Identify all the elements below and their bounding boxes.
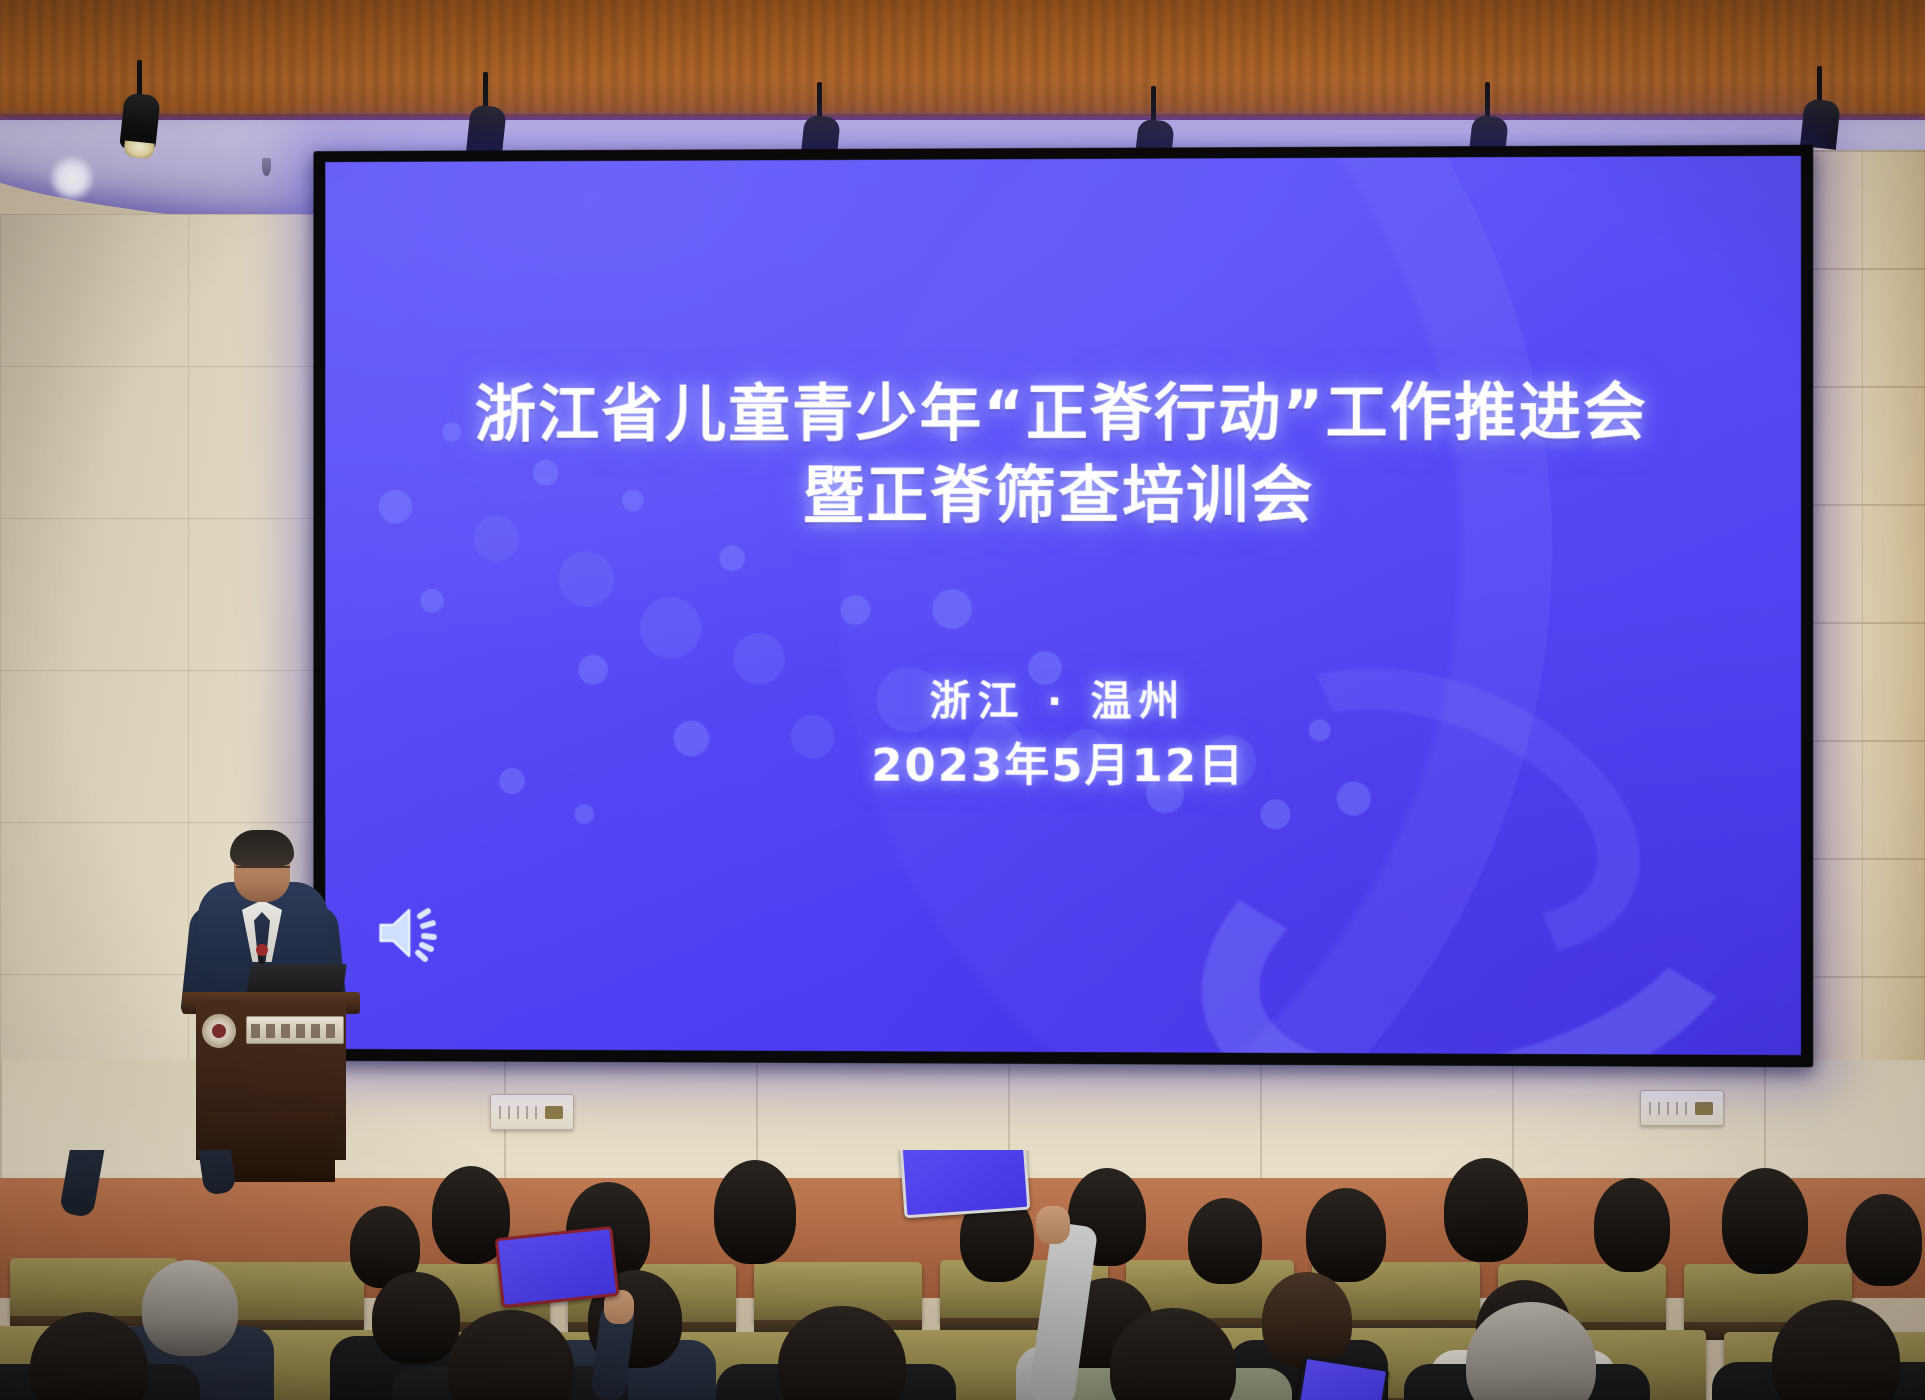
wall-right-panel [1800, 150, 1925, 1130]
audience-head [714, 1160, 796, 1264]
slide-bubble [558, 551, 613, 607]
podium-nameplate [246, 1016, 344, 1044]
speaker-volume-icon [377, 904, 442, 962]
slide-bubble [420, 589, 444, 613]
audience-head [372, 1272, 460, 1364]
audience-head [1262, 1272, 1352, 1368]
sprinkler-head-icon-1 [262, 158, 271, 176]
slide-date: 2023年5月12日 [325, 728, 1801, 795]
wall-outlet-icon-right [1640, 1090, 1724, 1126]
audience-head [1188, 1198, 1262, 1284]
podium-emblem-icon [202, 1014, 236, 1048]
microphone-head [256, 944, 268, 956]
downlight-1 [50, 156, 94, 200]
audience-area [0, 1150, 1925, 1400]
presentation-slide: 浙江省儿童青少年“正脊行动”工作推进会 暨正脊筛查培训会 浙江 · 温州 202… [325, 156, 1801, 1055]
audience-hand [1036, 1206, 1070, 1244]
slide-place: 浙江 · 温州 [325, 667, 1801, 728]
audience-head [1594, 1178, 1670, 1272]
audience-head [1722, 1168, 1808, 1274]
ceiling-wood-panel [0, 0, 1925, 132]
slide-bubble [574, 804, 594, 824]
audience-head [1306, 1188, 1386, 1282]
slide-bubble [719, 545, 745, 571]
presenter-glasses [236, 866, 290, 876]
led-screen-bezel: 浙江省儿童青少年“正脊行动”工作推进会 暨正脊筛查培训会 浙江 · 温州 202… [313, 145, 1813, 1068]
audience-arm [59, 1150, 111, 1218]
audience-arm [191, 1150, 236, 1196]
audience-phone [900, 1150, 1031, 1218]
audience-head [1444, 1158, 1528, 1262]
slide-bubble [640, 597, 702, 659]
wall-outlet-icon-left [490, 1094, 574, 1130]
audience-phone [495, 1226, 620, 1308]
track-spotlight-icon-1 [120, 60, 160, 170]
presenter-hair [230, 830, 294, 866]
audience-head [1846, 1194, 1922, 1286]
slide-bubble [932, 589, 972, 629]
slide-title: 浙江省儿童青少年“正脊行动”工作推进会 暨正脊筛查培训会 [325, 371, 1801, 537]
slide-bubble [841, 595, 871, 625]
conference-hall-photo: 浙江省儿童青少年“正脊行动”工作推进会 暨正脊筛查培训会 浙江 · 温州 202… [0, 0, 1925, 1400]
audience-head [142, 1260, 238, 1356]
slide-bubble [1260, 799, 1290, 829]
